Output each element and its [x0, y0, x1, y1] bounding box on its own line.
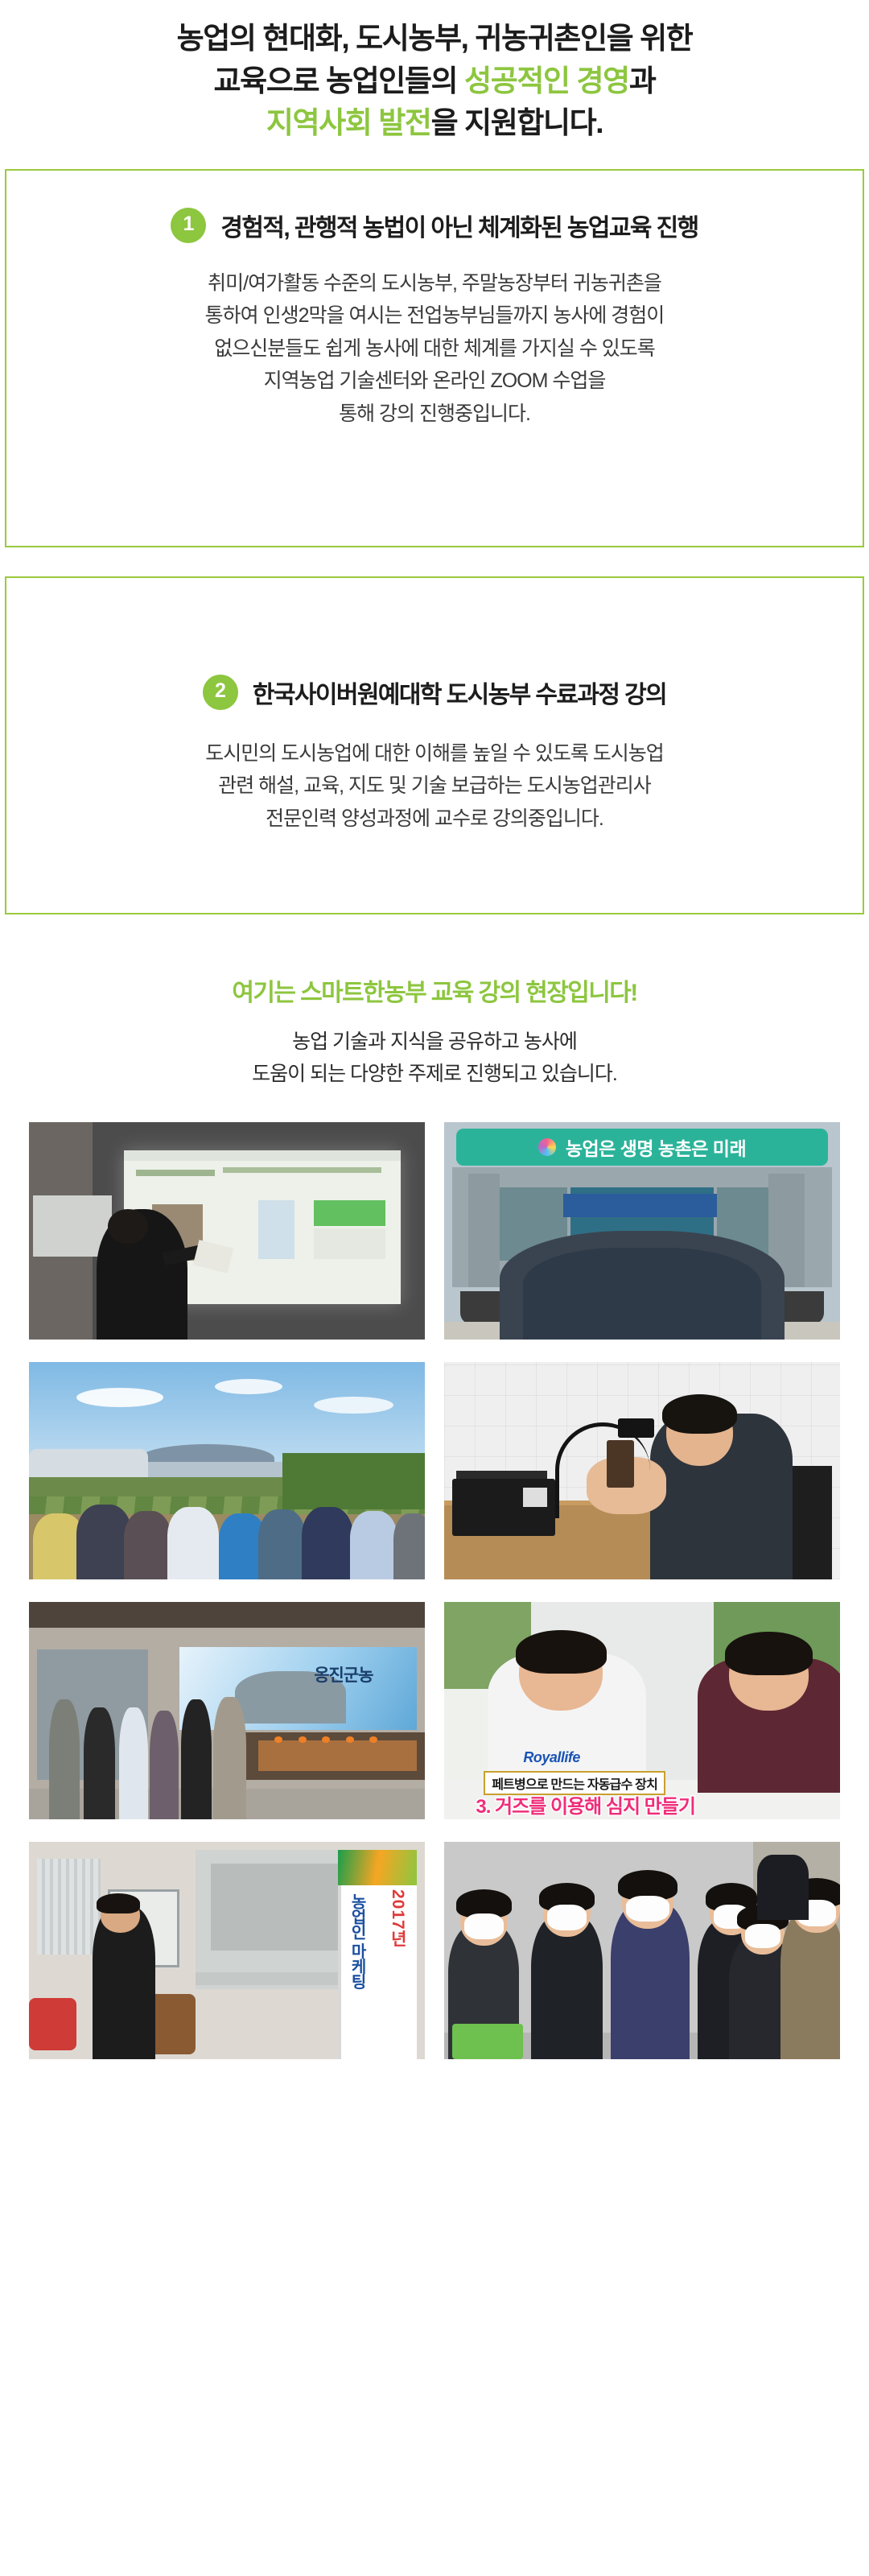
group-crowd-front	[523, 1248, 760, 1339]
student	[531, 1915, 603, 2058]
flower	[346, 1736, 354, 1743]
banner-text-title: 농업인 마케팅	[346, 1893, 369, 1989]
visitor	[167, 1507, 219, 1579]
banner-text-year: 2017년	[385, 1889, 410, 1948]
cloud	[215, 1379, 282, 1394]
panel-2-body-line: 관련 해설, 교육, 지도 및 기술 보급하는 도시농업관리사	[6, 770, 863, 803]
instructor-hair	[662, 1394, 737, 1434]
face-mask	[626, 1896, 669, 1922]
panel-2-body-line: 도시민의 도시농업에 대한 이해를 높일 수 있도록 도시농업	[6, 737, 863, 770]
hero-line-1: 농업의 현대화, 도시농부, 귀농귀촌인을 위한	[0, 18, 869, 60]
building-pillar-left	[468, 1174, 500, 1286]
visitor-group	[45, 1680, 251, 1819]
panel-2-body: 도시민의 도시농업에 대한 이해를 높일 수 있도록 도시농업 관련 해설, 교…	[6, 737, 863, 836]
flower-planter	[258, 1740, 417, 1771]
lecturer-hair	[97, 1893, 140, 1913]
panel-1-body: 취미/여가활동 수준의 도시농부, 주말농장부터 귀농귀촌을 통하여 인생2막을…	[6, 267, 863, 431]
visitor	[124, 1511, 171, 1579]
photo-gallery: 농업은 생명 농촌은 미래	[29, 1122, 840, 2059]
gallery-photo-field-visit-masked-group	[29, 1362, 425, 1579]
info-panel-2: 2 한국사이버원예대학 도시농부 수료과정 강의 도시민의 도시농업에 대한 이…	[5, 576, 864, 914]
signboard-text: 옹진군농	[314, 1662, 373, 1686]
shirt-brand-text: Royallife	[523, 1749, 580, 1766]
gallery-photo-classroom-marketing-banner: 농업인 마케팅 2017년	[29, 1842, 425, 2059]
visitor	[181, 1699, 212, 1819]
banner-header-graphic	[338, 1850, 417, 1885]
mid-subtitle-line: 농업 기술과 지식을 공유하고 농사에	[0, 1026, 869, 1058]
guest-hair	[725, 1632, 812, 1675]
mid-subtitle-line: 도움이 되는 다양한 주제로 진행되고 있습니다.	[0, 1058, 869, 1090]
panel-2-number-badge: 2	[203, 675, 238, 710]
face-mask	[547, 1905, 587, 1930]
hero-line-3: 지역사회 발전을 지원합니다.	[0, 102, 869, 145]
visitor	[213, 1697, 246, 1819]
gallery-photo-tv-show-selfwatering: Royallife 페트병으로 만드는 자동급수 장치 3. 거즈를 이용해 심…	[444, 1602, 840, 1819]
cloud	[314, 1397, 393, 1414]
hero-line-3-accent: 지역사회 발전	[266, 106, 431, 139]
hero-line-2-accent: 성공적인 경영	[464, 64, 629, 97]
flower	[299, 1736, 307, 1743]
building-eaves	[29, 1602, 425, 1628]
panel-1-body-line: 없으신분들도 쉽게 농사에 대한 체계를 가지실 수 있도록	[6, 332, 863, 365]
student-raised-arm	[757, 1855, 809, 1920]
panel-2-title: 한국사이버원예대학 도시농부 수료과정 강의	[253, 675, 666, 710]
slide-image	[211, 1864, 357, 1951]
slide-result-list	[314, 1228, 385, 1259]
panel-1-number-badge: 1	[171, 208, 206, 243]
visitor	[350, 1511, 397, 1579]
face-mask	[464, 1913, 504, 1939]
panel-1-body-line: 지역농업 기술센터와 온라인 ZOOM 수업을	[6, 365, 863, 398]
camera-icon	[618, 1418, 653, 1438]
lecturer-head	[108, 1209, 147, 1244]
blue-sub-banner	[563, 1194, 722, 1218]
slide-heading	[136, 1170, 215, 1176]
host-hair	[516, 1630, 607, 1674]
gallery-photo-group-photo-green-banner: 농업은 생명 농촌은 미래	[444, 1122, 840, 1340]
tv-caption-secondary: 3. 거즈를 이용해 심지 만들기	[476, 1790, 695, 1818]
flower	[274, 1736, 282, 1743]
slide-phone-mockup	[258, 1200, 294, 1259]
face-mask	[745, 1924, 780, 1948]
mid-subtitle: 농업 기술과 지식을 공유하고 농사에 도움이 되는 다양한 주제로 진행되고 …	[0, 1026, 869, 1090]
mid-section: 여기는 스마트한농부 교육 강의 현장입니다! 농업 기술과 지식을 공유하고 …	[0, 914, 869, 1090]
window-blinds	[37, 1859, 101, 1955]
hero-line-2: 교육으로 농업인들의 성공적인 경영과	[0, 60, 869, 103]
panel-1-body-line: 통해 강의 진행중입니다.	[6, 398, 863, 431]
visitor	[49, 1699, 80, 1819]
green-banner-text: 농업은 생명 농촌은 미래	[566, 1133, 746, 1161]
hero-section: 농업의 현대화, 도시농부, 귀농귀촌인을 위한 교육으로 농업인들의 성공적인…	[0, 0, 869, 150]
red-chair	[29, 1998, 76, 2050]
green-chair	[452, 2024, 524, 2058]
slide-paragraph	[223, 1167, 381, 1173]
paper-cup	[523, 1488, 547, 1507]
visitor	[84, 1707, 114, 1818]
browser-toolbar	[124, 1150, 401, 1162]
gallery-photo-group-photo-ongjin-center: 옹진군농	[29, 1602, 425, 1819]
flower-logo-icon	[538, 1138, 556, 1156]
hero-line-2-plain: 교육으로 농업인들의	[214, 64, 465, 97]
visitor	[393, 1513, 425, 1579]
visitor	[302, 1507, 353, 1579]
gallery-photo-students-group-thumbsup	[444, 1842, 840, 2059]
panel-1-body-line: 통하여 인생2막을 여시는 전업농부님들까지 농사에 경험이	[6, 299, 863, 332]
flower	[322, 1736, 330, 1743]
panel-1-body-line: 취미/여가활동 수준의 도시농부, 주말농장부터 귀농귀촌을	[6, 267, 863, 300]
gallery-photo-lecture-projector-modoo	[29, 1122, 425, 1340]
panel-2-body-line: 전문인력 양성과정에 교수로 강의중입니다.	[6, 803, 863, 836]
mid-title: 여기는 스마트한농부 교육 강의 현장입니다!	[0, 972, 869, 1008]
visitor	[119, 1707, 148, 1818]
mushroom-log-sample	[607, 1440, 634, 1488]
slide-green-panel	[314, 1200, 385, 1226]
visitor-group	[29, 1466, 425, 1579]
green-banner-text-row: 농업은 생명 농촌은 미래	[456, 1129, 828, 1166]
panel-2-header: 2 한국사이버원예대학 도시농부 수료과정 강의	[6, 578, 863, 710]
panel-1-title: 경험적, 관행적 농법이 아닌 체계화된 농업교육 진행	[220, 208, 698, 243]
panel-1-header: 1 경험적, 관행적 농법이 아닌 체계화된 농업교육 진행	[6, 171, 863, 243]
gallery-photo-online-zoom-lecture-desk	[444, 1362, 840, 1579]
visitor	[150, 1711, 179, 1819]
hero-line-3-tail: 을 지원합니다.	[431, 106, 603, 139]
hero-line-2-tail: 과	[629, 64, 656, 97]
student	[780, 1911, 840, 2059]
visitor	[258, 1509, 306, 1579]
info-panel-1: 1 경험적, 관행적 농법이 아닌 체계화된 농업교육 진행 취미/여가활동 수…	[5, 169, 864, 547]
